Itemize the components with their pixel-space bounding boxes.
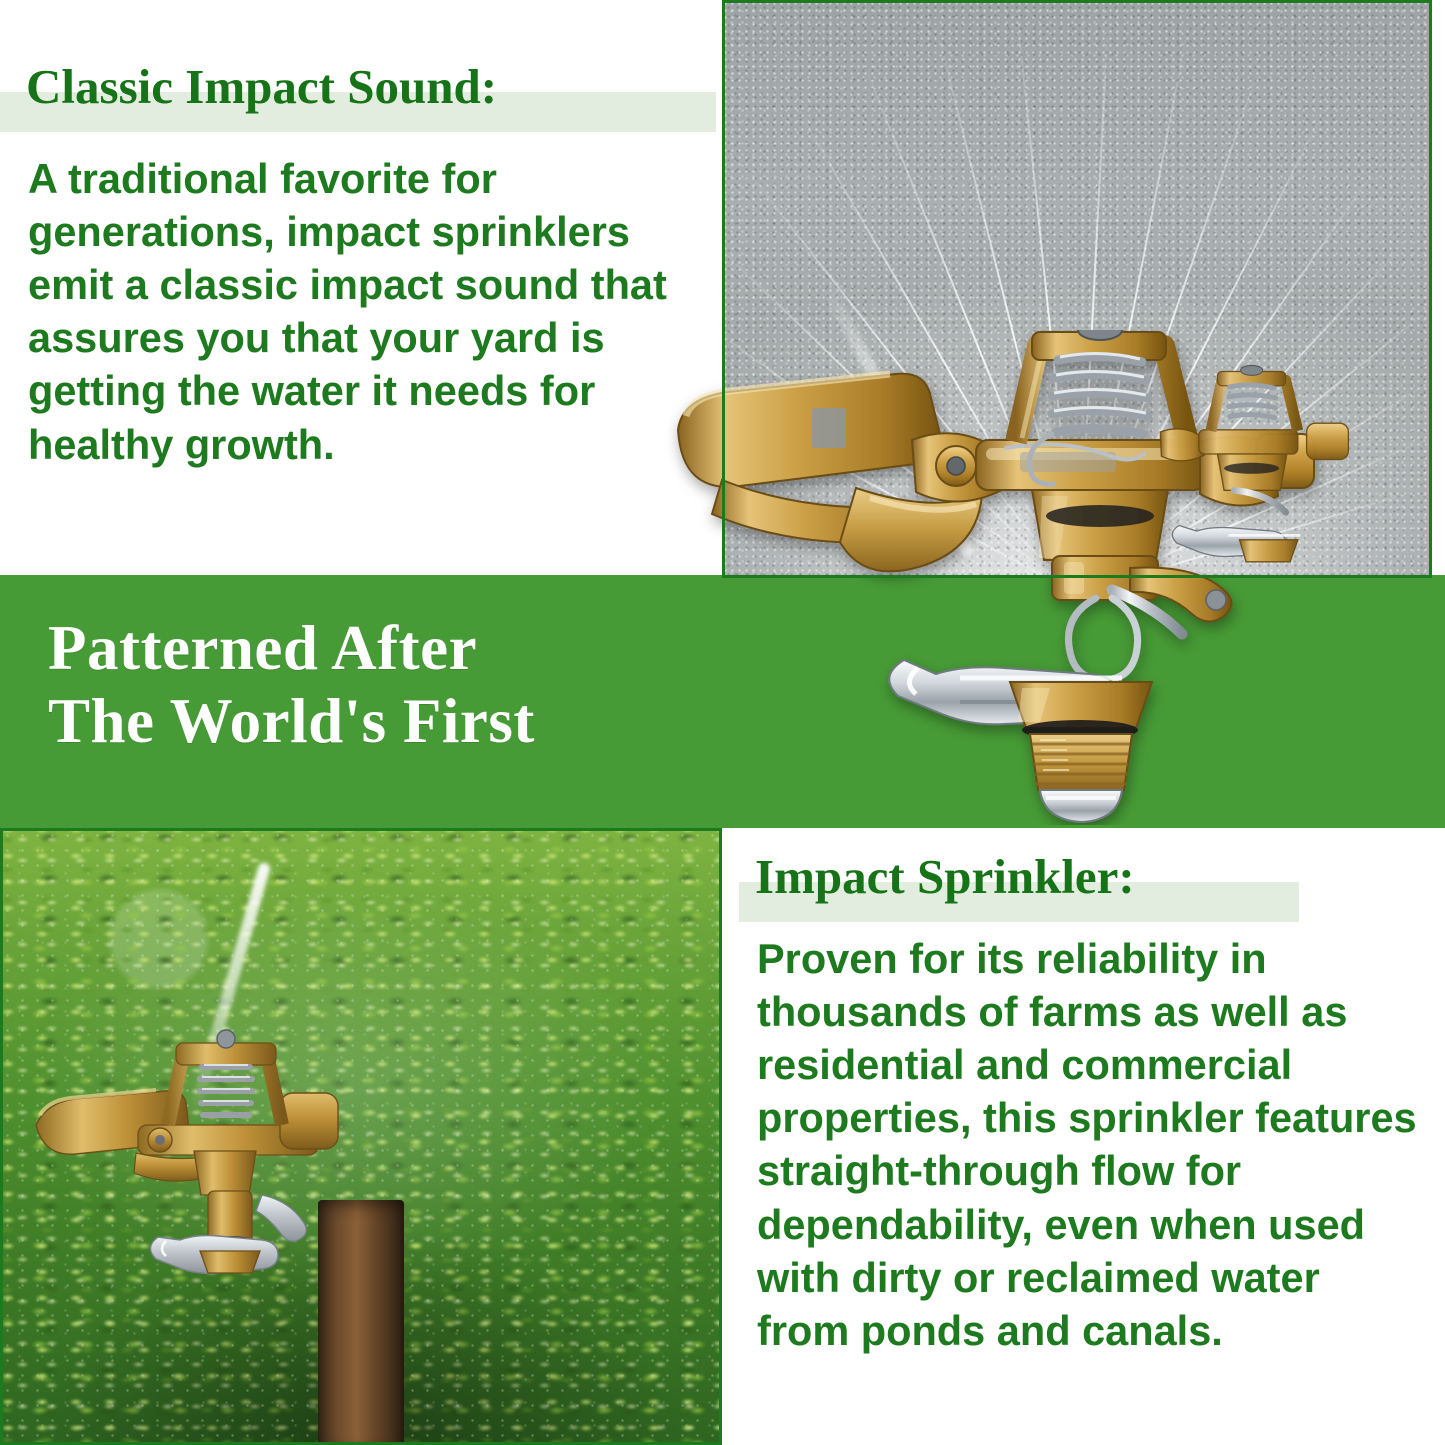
body-line: A traditional favorite for <box>28 152 667 205</box>
body-line: healthy growth. <box>28 418 667 471</box>
body-line: emit a classic impact sound that <box>28 258 667 311</box>
body-line: from ponds and canals. <box>757 1304 1417 1357</box>
body-line: with dirty or reclaimed water <box>757 1251 1417 1304</box>
impact-sprinkler-body: Proven for its reliability in thousands … <box>757 932 1417 1357</box>
banner-line-1: Patterned After <box>48 612 535 685</box>
body-line: getting the water it needs for <box>28 364 667 417</box>
banner-line-2: The World's First <box>48 685 535 758</box>
body-line: residential and commercial <box>757 1038 1417 1091</box>
heading-text: Classic Impact Sound: <box>26 59 497 114</box>
heading-text: Impact Sprinkler: <box>755 849 1135 904</box>
infographic-page: Patterned After The World's First <box>0 0 1445 1445</box>
impact-sprinkler-heading: Impact Sprinkler: <box>755 852 1135 901</box>
body-line: generations, impact sprinklers <box>28 205 667 258</box>
classic-impact-sound-body: A traditional favorite for generations, … <box>28 152 667 471</box>
body-line: Proven for its reliability in <box>757 932 1417 985</box>
hero-impact-sprinkler-product <box>660 330 1350 825</box>
field-impact-sprinkler <box>18 975 438 1285</box>
body-line: straight-through flow for <box>757 1144 1417 1197</box>
body-line: dependability, even when used <box>757 1198 1417 1251</box>
body-line: properties, this sprinkler features <box>757 1091 1417 1144</box>
classic-impact-sound-heading: Classic Impact Sound: <box>26 62 497 111</box>
banner-headline: Patterned After The World's First <box>48 612 535 758</box>
body-line: assures you that your yard is <box>28 311 667 364</box>
body-line: thousands of farms as well as <box>757 985 1417 1038</box>
